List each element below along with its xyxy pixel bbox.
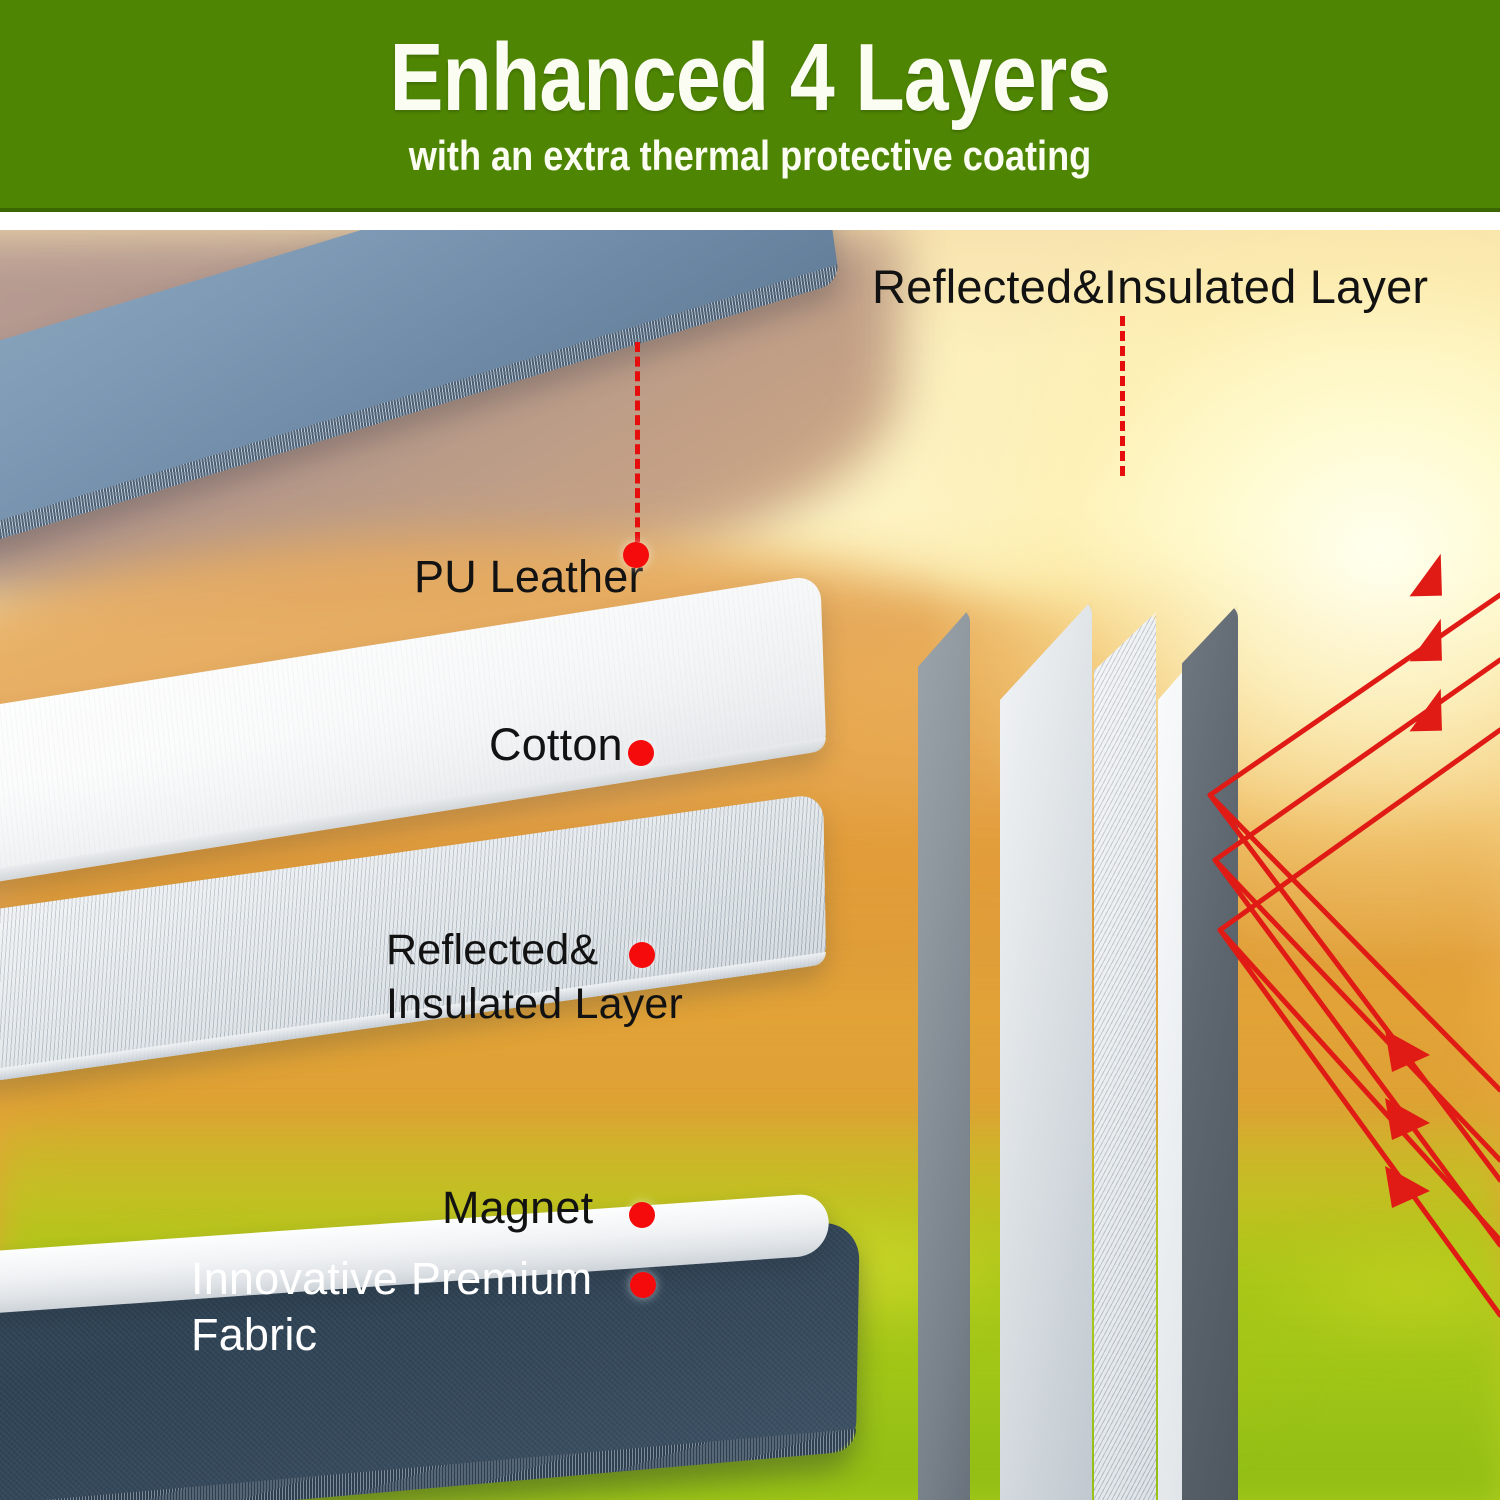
callout-reflected-insulated-line2: Insulated Layer	[386, 978, 683, 1030]
leader-line-pu-leather	[635, 342, 640, 542]
page-subtitle: with an extra thermal protective coating	[105, 130, 1395, 180]
marker-dot-reflected-insulated	[629, 942, 655, 968]
marker-dot-premium-fabric	[630, 1272, 656, 1298]
callout-reflected-insulated-line1: Reflected&	[386, 924, 598, 976]
banner-bottom-edge	[0, 208, 1500, 212]
stack-panel-outer-dark	[918, 608, 970, 1500]
callout-reflected-insulated-top: Reflected&Insulated Layer	[872, 260, 1428, 314]
marker-dot-pu-leather	[623, 542, 649, 568]
callout-magnet: Magnet	[442, 1181, 593, 1235]
stack-panel-reflected-insulated	[1094, 612, 1156, 1500]
page-title: Enhanced 4 Layers	[120, 0, 1380, 130]
marker-dot-cotton	[628, 740, 654, 766]
stack-panel-cotton	[1000, 600, 1092, 1500]
marker-dot-magnet	[629, 1202, 655, 1228]
panel-weave-texture	[1094, 612, 1156, 1500]
stack-panel-fabric	[1182, 604, 1238, 1500]
header-banner: Enhanced 4 Layers with an extra thermal …	[0, 0, 1500, 212]
leader-line-reflected-insulated	[1120, 316, 1125, 476]
callout-pu-leather: PU Leather	[414, 550, 644, 604]
callout-premium-fabric-line1: Innovative Premium	[191, 1252, 592, 1306]
infographic-canvas: Reflected&Insulated Layer PU Leather Cot…	[0, 0, 1500, 1500]
product-scene-photo: Reflected&Insulated Layer PU Leather Cot…	[0, 230, 1500, 1500]
callout-cotton: Cotton	[489, 718, 623, 772]
banner-separator	[0, 212, 1500, 230]
callout-premium-fabric-line2: Fabric	[191, 1308, 317, 1362]
